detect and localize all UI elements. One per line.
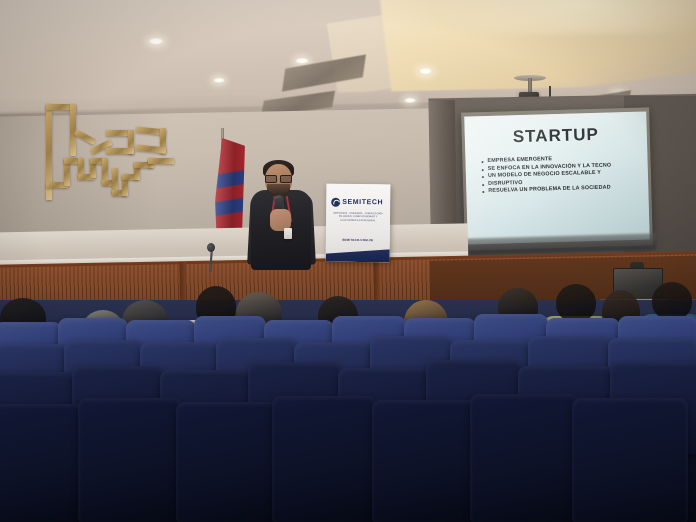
downlight-icon <box>295 58 309 64</box>
ceiling-cove-glow <box>430 0 696 34</box>
slide-bullet-list: EMPRESA EMERGENTESE ENFOCA EN LA INNOVAC… <box>480 153 649 196</box>
microphone-icon-2 <box>207 243 215 252</box>
presentation-slide: STARTUP EMPRESA EMERGENTESE ENFOCA EN LA… <box>464 111 650 244</box>
auditorium-seat <box>470 394 578 522</box>
banner-footer-bar <box>326 249 390 263</box>
auditorium-seat <box>0 404 84 522</box>
downlight-icon <box>148 38 164 45</box>
banner-logo-row: SEMITECH <box>331 196 387 209</box>
downlight-icon <box>418 68 433 75</box>
projection-screen: STARTUP EMPRESA EMERGENTESE ENFOCA EN LA… <box>464 111 650 244</box>
banner-tagline: SERVICIOS · ASESORÍA · CONSULTORÍA EN RE… <box>332 212 384 223</box>
attendee-head <box>652 282 692 320</box>
auditorium-seat <box>572 398 688 522</box>
auditorium-presentation-photo: STARTUP EMPRESA EMERGENTESE ENFOCA EN LA… <box>0 0 696 522</box>
downlight-icon <box>404 98 416 103</box>
auditorium-seat <box>372 400 476 522</box>
auditorium-seat <box>78 398 182 522</box>
banner-brand-name: SEMITECH <box>342 198 383 205</box>
glasses-icon <box>265 175 292 181</box>
slide-title: STARTUP <box>465 123 647 148</box>
downlight-icon <box>213 78 225 83</box>
id-badge <box>284 228 292 239</box>
attendee-head <box>556 284 596 322</box>
semitech-logo-icon <box>331 197 340 206</box>
auditorium-seat <box>272 396 376 522</box>
auditorium-seat <box>176 402 280 522</box>
wall-sculpture-logo <box>44 96 174 224</box>
semitech-roll-up-banner: SEMITECH SERVICIOS · ASESORÍA · CONSULTO… <box>326 184 391 263</box>
banner-website-url: SEMITECH.COM.VE <box>332 238 384 243</box>
